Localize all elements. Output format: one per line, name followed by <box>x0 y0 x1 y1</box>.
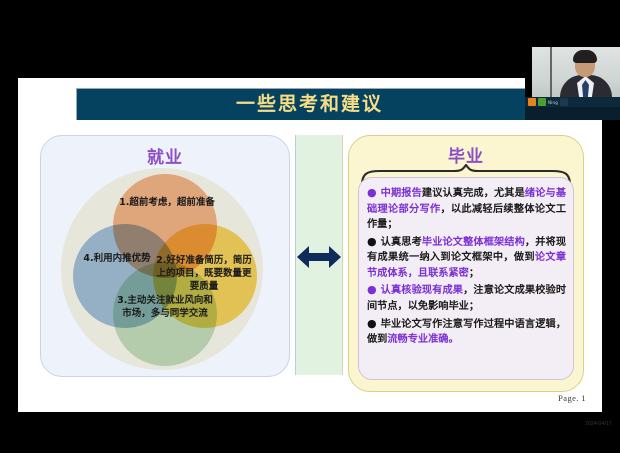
video-toolbar[interactable] <box>525 107 620 120</box>
bullet-marker-icon: ● <box>367 283 381 296</box>
presentation-slide: 一些思考和建议 就业 1.超前考虑，超前准备 2.好好准备简历，简历上的项目，既… <box>18 78 602 412</box>
bullet-text-run: 认真思考 <box>381 237 422 248</box>
center-connector <box>295 135 343 375</box>
microphone-icon[interactable] <box>528 98 536 106</box>
employment-panel: 就业 1.超前考虑，超前准备 2.好好准备简历，简历上的项目，既要数量更要质量 … <box>40 135 290 377</box>
camera-icon[interactable] <box>538 98 546 106</box>
bullet-text-run: 认真核验现有成果 <box>381 285 463 296</box>
bullet-text-run: ； <box>469 268 479 279</box>
bullet-item: ● 毕业论文写作注意写作过程中语言逻辑，做到流畅专业准确。 <box>367 316 566 348</box>
bullet-text-run: 中期报告 <box>381 188 422 199</box>
bullet-item: ● 中期报告建议认真完成，尤其是绪论与基础理论部分写作，以此减轻后续整体论文工作… <box>367 185 566 233</box>
page-title: 一些思考和建议 <box>236 95 383 114</box>
double-arrow-horizontal-icon <box>296 243 342 271</box>
bullet-marker-icon: ● <box>367 235 381 248</box>
graduation-panel: 毕业 ● 中期报告建议认真完成，尤其是绪论与基础理论部分写作，以此减轻后续整体论… <box>348 135 584 392</box>
bullet-text-run: 流畅专业准确。 <box>387 334 458 345</box>
venn-label-2: 2.好好准备简历，简历上的项目，既要数量更要质量 <box>155 254 253 293</box>
timestamp-watermark: 2024/04/17 <box>585 421 612 427</box>
bullet-text-run: 建议认真完成，尤其是 <box>422 188 525 199</box>
venn-diagram: 1.超前考虑，超前准备 2.好好准备简历，简历上的项目，既要数量更要质量 3.主… <box>57 168 273 370</box>
graduation-bullet-list: ● 中期报告建议认真完成，尤其是绪论与基础理论部分写作，以此减轻后续整体论文工作… <box>358 177 574 380</box>
bullet-item: ● 认真思考毕业论文整体框架结构，并将现有成果统一纳入到论文框架中，做到论文章节… <box>367 234 566 282</box>
participant-hair <box>573 50 597 63</box>
bullet-marker-icon: ● <box>367 186 381 199</box>
video-thumbnail[interactable]: Ning <box>525 20 620 120</box>
venn-label-4: 4.利用内推优势 <box>71 252 163 265</box>
slide-title-bar: 一些思考和建议 <box>76 88 542 120</box>
bullet-marker-icon: ● <box>367 317 381 330</box>
bullet-text-run: 毕业论文整体框架结构 <box>422 237 525 248</box>
participant-name: Ning <box>548 100 558 105</box>
video-status-bar[interactable]: Ning <box>525 97 620 107</box>
venn-label-3: 3.主动关注就业风向和市场，多与同学交流 <box>115 294 215 320</box>
page-number: Page. 1 <box>558 393 586 403</box>
venn-label-1: 1.超前考虑，超前准备 <box>115 196 219 209</box>
bullet-item: ● 认真核验现有成果，注意论文成果校验时间节点，以免影响毕业； <box>367 282 566 314</box>
participant-icon[interactable] <box>560 98 568 106</box>
employment-heading: 就业 <box>41 143 289 168</box>
screen: 一些思考和建议 就业 1.超前考虑，超前准备 2.好好准备简历，简历上的项目，既… <box>0 0 620 453</box>
